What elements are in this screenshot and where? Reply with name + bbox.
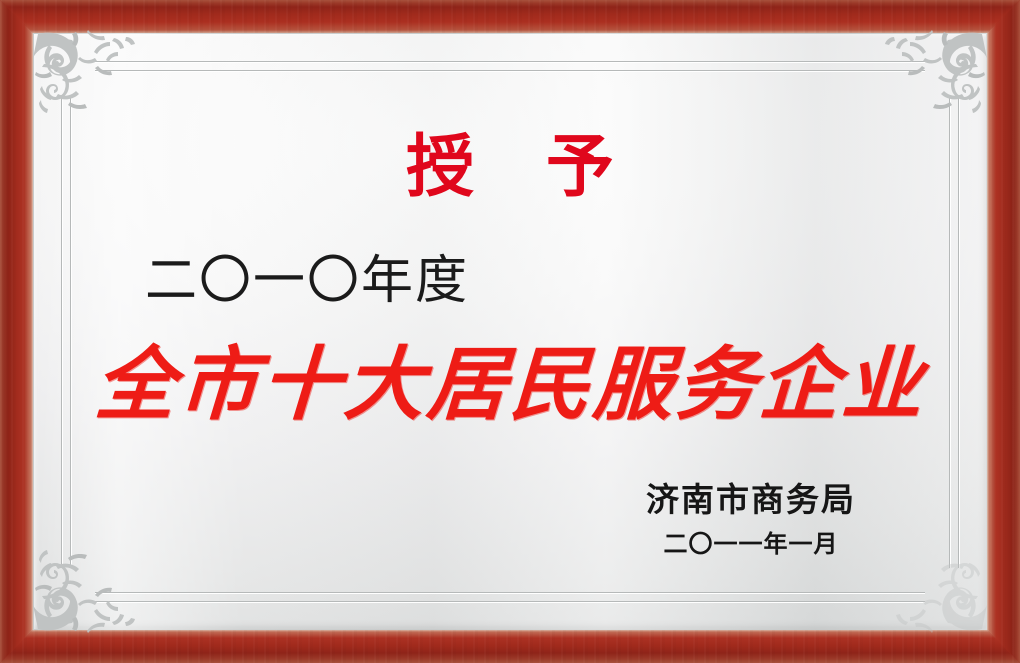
- issue-date: 二〇一一年一月: [601, 532, 901, 556]
- certificate-content: 授 予 二〇一〇年度 全市十大居民服务企业 济南市商务局 二〇一一年一月: [33, 33, 987, 630]
- issuer-block: 济南市商务局 二〇一一年一月: [601, 483, 901, 556]
- award-title: 全市十大居民服务企业: [31, 341, 990, 427]
- frame-top-edge: [0, 0, 1020, 33]
- award-word: 授 予: [33, 133, 987, 201]
- frame-right-edge: [987, 0, 1020, 663]
- frame-left-edge: [0, 0, 33, 663]
- issuer-name: 济南市商务局: [601, 483, 901, 516]
- frame-bottom-edge: [0, 630, 1020, 663]
- award-plaque: 授 予 二〇一〇年度 全市十大居民服务企业 济南市商务局 二〇一一年一月: [0, 0, 1020, 663]
- award-year-line: 二〇一〇年度: [145, 255, 469, 307]
